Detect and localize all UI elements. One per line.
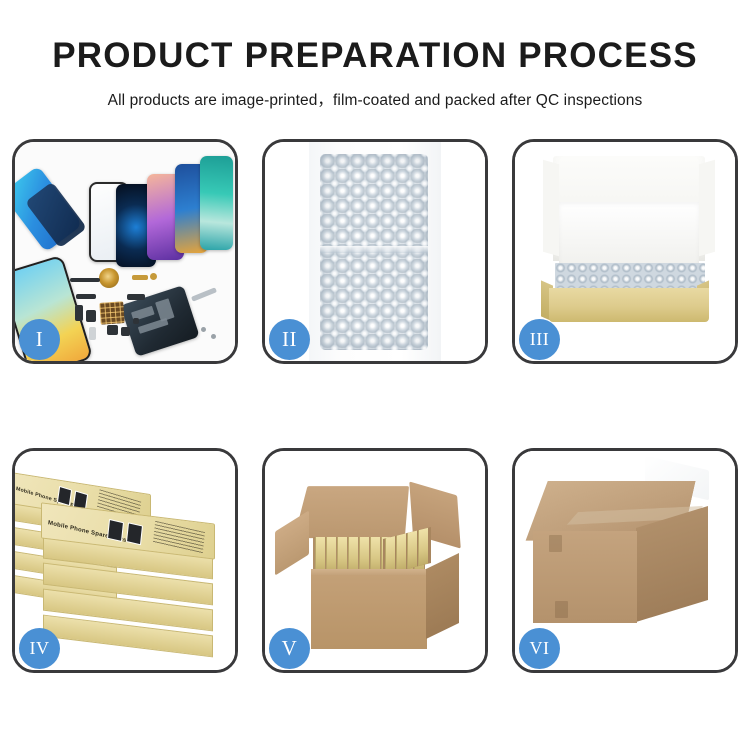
screw-graphic (201, 327, 206, 332)
small-part-graphic (89, 327, 96, 340)
carton-front-face (533, 531, 637, 623)
bubble-wrap-inside-graphic (555, 263, 705, 291)
carton-side-face (426, 553, 459, 639)
bubble-wrap-fold (320, 246, 428, 253)
process-step-panel-3: III (512, 139, 738, 364)
small-part-graphic (133, 318, 139, 324)
small-part-graphic (75, 305, 83, 321)
small-part-graphic (132, 275, 148, 280)
small-part-graphic (107, 325, 118, 335)
page-header: PRODUCT PREPARATION PROCESS All products… (0, 0, 750, 110)
box-tray-graphic (549, 288, 709, 322)
small-part-graphic (86, 310, 96, 322)
step-badge-5: V (269, 628, 310, 669)
carton-flap-left (275, 510, 309, 575)
small-part-graphic (76, 294, 96, 299)
carton-front-face (311, 575, 427, 649)
foam-insert-graphic (559, 202, 699, 264)
process-step-panel-1: I (12, 139, 238, 364)
small-part-graphic (70, 278, 100, 282)
process-step-panel-2: II (262, 139, 488, 364)
speaker-coil-graphic (99, 268, 119, 288)
carton-hand-hole (549, 535, 562, 552)
connector-grid-graphic (99, 301, 124, 325)
small-part-graphic (127, 294, 145, 300)
step-badge-2: II (269, 319, 310, 360)
small-part-graphic (150, 273, 157, 280)
step-badge-3: III (519, 319, 560, 360)
carton-flap-back (294, 486, 409, 538)
step-badge-1: I (19, 319, 60, 360)
box-screen-print (57, 486, 72, 506)
tool-graphic (191, 287, 217, 301)
screw-graphic (211, 334, 216, 339)
process-steps-grid: I II III (12, 139, 738, 673)
process-step-panel-5: V (262, 448, 488, 673)
carton-hand-hole (555, 601, 568, 618)
process-step-panel-6: VI (512, 448, 738, 673)
step-badge-4: IV (19, 628, 60, 669)
small-part-graphic (121, 327, 130, 336)
page-subtitle: All products are image-printed，film-coat… (0, 75, 750, 110)
phone-screen-teal-graphic (200, 156, 233, 250)
page-title: PRODUCT PREPARATION PROCESS (0, 0, 750, 75)
process-step-panel-4: Mobile Phone Spare Parts Mobile Phone Sp… (12, 448, 238, 673)
box-screen-print (126, 522, 143, 545)
box-screen-print (107, 519, 124, 542)
step-badge-6: VI (519, 628, 560, 669)
